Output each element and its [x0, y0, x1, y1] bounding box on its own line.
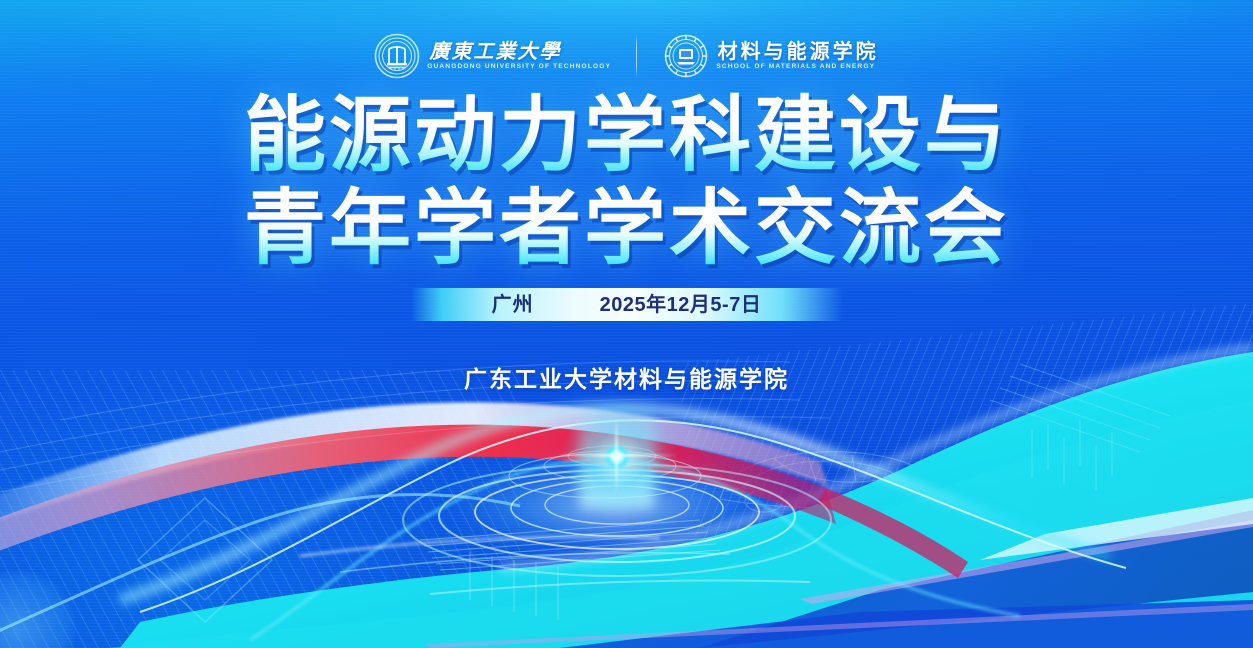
title-line-2: 青年学者学术交流会: [0, 185, 1253, 274]
gdut-seal-icon: [374, 33, 420, 79]
school-gear-svg: [663, 33, 709, 79]
diagonal-mesh-left: [0, 370, 520, 648]
school-logo: 材料与能源学院 SCHOOL OF MATERIALS AND ENERGY: [663, 33, 879, 79]
school-name-cn: 材料与能源学院: [718, 42, 879, 62]
university-logo-text: 廣東工業大學 GUANGDONG UNIVERSITY OF TECHNOLOG…: [429, 42, 609, 71]
event-date: 2025年12月5-7日: [600, 295, 762, 315]
school-name-en: SCHOOL OF MATERIALS AND ENERGY: [716, 64, 880, 71]
event-city: 广州: [492, 295, 534, 315]
conference-poster: 廣東工業大學 GUANGDONG UNIVERSITY OF TECHNOLOG…: [0, 0, 1253, 648]
info-bar: 广州 2025年12月5-7日: [411, 288, 843, 321]
gdut-seal-svg: [374, 33, 420, 79]
logo-bar: 廣東工業大學 GUANGDONG UNIVERSITY OF TECHNOLOG…: [0, 33, 1253, 79]
university-logo: 廣東工業大學 GUANGDONG UNIVERSITY OF TECHNOLOG…: [374, 33, 609, 79]
portal-light-halo: [560, 400, 678, 518]
logo-divider: [636, 34, 637, 78]
university-name-en: GUANGDONG UNIVERSITY OF TECHNOLOGY: [428, 64, 612, 71]
portal-light-core: [604, 444, 630, 470]
university-name-cn: 廣東工業大學: [429, 42, 609, 62]
info-bar-wrapper: 广州 2025年12月5-7日: [0, 288, 1253, 321]
lens-flare-horizontal: [556, 454, 678, 457]
poster-title: 能源动力学科建设与 青年学者学术交流会: [0, 92, 1253, 273]
school-logo-text: 材料与能源学院 SCHOOL OF MATERIALS AND ENERGY: [718, 42, 879, 71]
school-gear-emblem-icon: [663, 33, 709, 79]
title-line-1: 能源动力学科建设与: [0, 92, 1253, 181]
organizer-name: 广东工业大学材料与能源学院: [0, 360, 1253, 394]
portal-light-beam: [580, 398, 654, 508]
lens-flare-vertical: [615, 416, 618, 494]
diagonal-mesh-right: [677, 299, 1253, 648]
